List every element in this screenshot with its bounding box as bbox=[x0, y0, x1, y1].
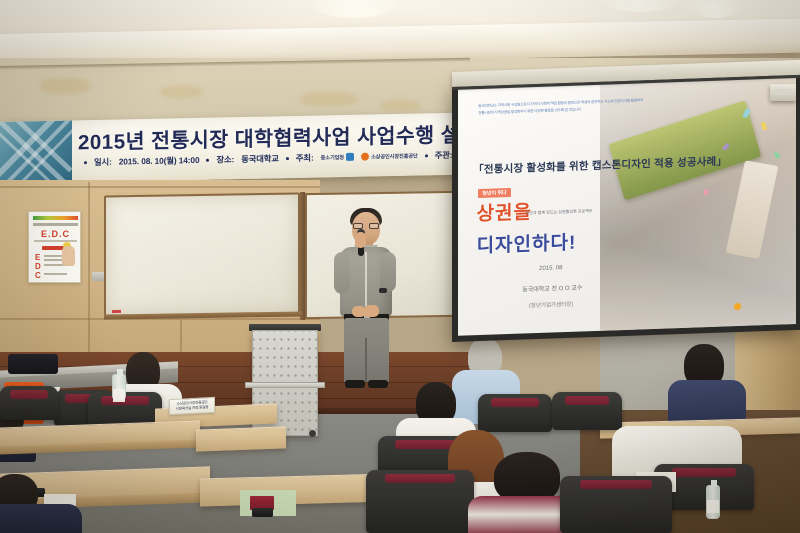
foreground-left-body bbox=[0, 504, 82, 533]
chair-headrest-band bbox=[672, 468, 736, 477]
chair-headrest-band bbox=[565, 396, 610, 405]
banner-date-label: 일시: bbox=[94, 156, 112, 168]
whiteboard bbox=[104, 192, 300, 317]
bullet-icon bbox=[286, 157, 289, 160]
poster-color-bar bbox=[33, 216, 78, 220]
slide-date: 2015. 08 bbox=[539, 265, 562, 272]
banner-decoration-icon bbox=[0, 120, 72, 184]
chair-headrest-band bbox=[491, 398, 538, 407]
nameplate-line2: 시장육성실 차장 홍길동 bbox=[176, 405, 209, 412]
slide-subline: 청년과 함께 만드는 상권활성화 프로젝트 bbox=[526, 208, 593, 217]
hand-icon bbox=[62, 246, 75, 266]
speaker-hand-holding-mic bbox=[355, 232, 366, 248]
slide-logo-icon bbox=[733, 302, 742, 311]
speaker-left-arm bbox=[334, 252, 350, 294]
banner-host-label: 주최: bbox=[296, 152, 314, 164]
smartphone-center bbox=[252, 508, 273, 517]
speaker-left-hand bbox=[352, 306, 366, 317]
speaker-shoe-left bbox=[345, 380, 365, 388]
projection-screen-frame: 동국대학교는 지역사회 구성원으로서 지역의 사회적 책임 활동과 협력으로 학… bbox=[452, 72, 800, 342]
desk-middle-center bbox=[196, 426, 286, 451]
speaker-right-hand bbox=[364, 305, 379, 317]
chair-headrest-band bbox=[385, 474, 454, 483]
bullet-icon bbox=[425, 154, 428, 157]
poster-text-2 bbox=[44, 259, 62, 261]
wall-stain-3 bbox=[300, 92, 358, 106]
poster-subtitle-line bbox=[33, 223, 78, 226]
banner-host-value2: 소상공인시장진흥공단 bbox=[371, 152, 418, 160]
podium-caster-right bbox=[309, 430, 316, 437]
poster-text-4 bbox=[44, 273, 67, 275]
semas-logo-icon bbox=[361, 153, 369, 161]
wall-stain-4 bbox=[380, 100, 420, 111]
water-bottle-right bbox=[706, 485, 720, 519]
speaker-shoe-right bbox=[368, 380, 388, 388]
wood-seam-2 bbox=[88, 182, 90, 362]
speaker-leg-split bbox=[365, 338, 367, 382]
slide-organization: 동국대학교 전 O O 교수 bbox=[522, 282, 582, 293]
banner-place-label: 장소: bbox=[216, 153, 234, 165]
sme-logo-icon bbox=[346, 153, 354, 161]
wood-seam-1 bbox=[0, 186, 320, 188]
bullet-icon bbox=[84, 161, 87, 164]
banner-place-value: 동국대학교 bbox=[241, 152, 279, 165]
speaker-right-arm bbox=[380, 252, 396, 292]
chair-back-right-1 bbox=[478, 394, 552, 432]
wall-stain-1 bbox=[40, 78, 90, 94]
chair-headrest-band bbox=[580, 480, 652, 489]
slide-role: (청년기업가센터장) bbox=[529, 300, 573, 310]
wristwatch-icon bbox=[379, 288, 387, 293]
host-logo-1: 중소기업청 bbox=[321, 153, 354, 162]
banner-date-value: 2015. 08. 10(월) 14:00 bbox=[119, 154, 200, 168]
banner-host-value: 중소기업청 bbox=[321, 154, 344, 161]
whiteboard-marker bbox=[112, 310, 121, 313]
slide-tag-badge: 청년이 뛰다 bbox=[478, 188, 510, 198]
poster-letter-d: D bbox=[35, 262, 41, 271]
podium-shelf bbox=[245, 382, 325, 388]
whiteboard-divider bbox=[300, 192, 305, 320]
bullet-icon bbox=[206, 158, 209, 161]
banner-organizer-label: 주관: bbox=[435, 149, 453, 161]
poster-letter-c: C bbox=[35, 271, 41, 280]
slide-headline-2: 디자인하다! bbox=[477, 228, 577, 258]
poster-line-1 bbox=[34, 240, 77, 242]
slide-headline-1: 상권을 bbox=[477, 197, 532, 226]
audience-person-foreground-left bbox=[0, 474, 82, 533]
speaker-presenter bbox=[328, 210, 404, 390]
host-logo-2: 소상공인시장진흥공단 bbox=[361, 152, 418, 161]
water-bottle-back-center bbox=[112, 374, 126, 400]
poster-title: E.D.C bbox=[41, 229, 70, 239]
edc-poster: E.D.C E D C bbox=[28, 211, 81, 283]
wall-stain-2 bbox=[160, 86, 202, 98]
chair-back-left-2 bbox=[0, 386, 58, 420]
chair-front-center bbox=[366, 470, 474, 533]
glasses-icon bbox=[353, 223, 379, 229]
lecture-hall-photo: 2015년 전통시장 대학협력사업 사업수행 설 일시: 2015. 08. 1… bbox=[0, 0, 800, 533]
name-plate: 소상공인시장진흥공단 시장육성실 차장 홍길동 bbox=[169, 397, 215, 415]
chair-headrest-band bbox=[10, 390, 47, 399]
event-banner: 2015년 전통시장 대학협력사업 사업수행 설 일시: 2015. 08. 1… bbox=[0, 113, 466, 184]
projector-device bbox=[770, 84, 796, 101]
black-case-back-left bbox=[8, 354, 58, 374]
poster-letter-e: E bbox=[35, 253, 40, 262]
chair-front-right bbox=[560, 476, 672, 533]
projection-screen: 동국대학교는 지역사회 구성원으로서 지역의 사회적 책임 활동과 협력으로 학… bbox=[458, 77, 796, 336]
